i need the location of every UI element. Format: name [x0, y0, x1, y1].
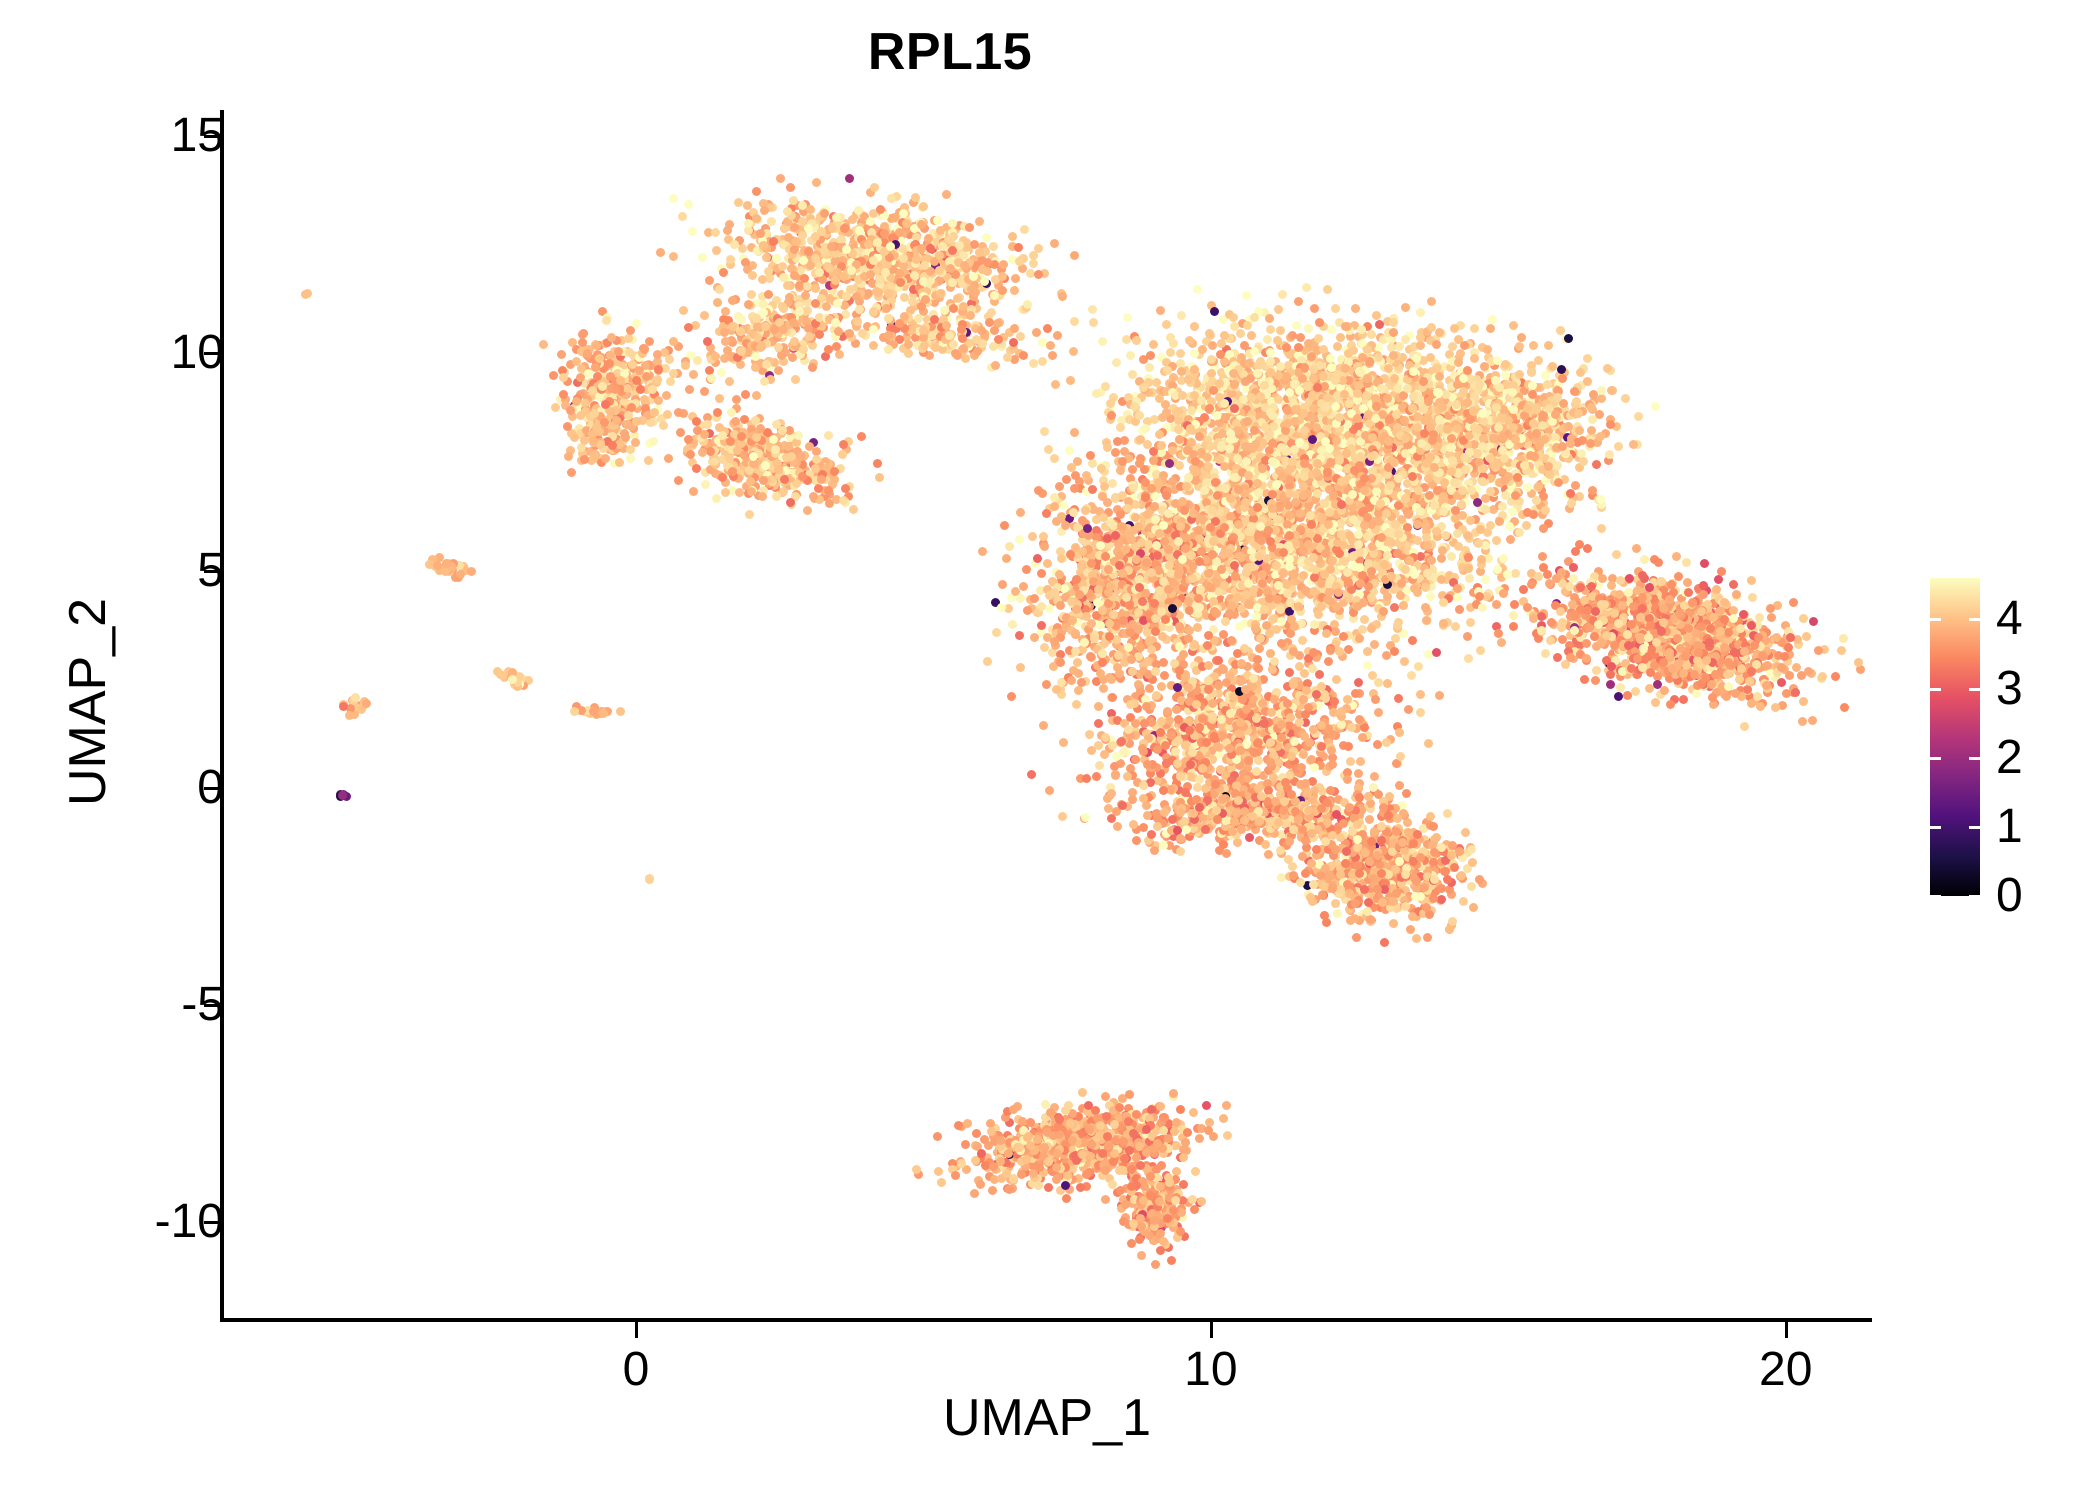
scatter-point	[914, 314, 923, 323]
scatter-point	[969, 272, 978, 281]
scatter-point	[1349, 346, 1358, 355]
scatter-point	[1357, 325, 1366, 334]
scatter-point	[595, 354, 604, 363]
scatter-point	[601, 454, 610, 463]
scatter-point	[917, 302, 926, 311]
scatter-point	[653, 350, 662, 359]
x-axis-line	[220, 1318, 1872, 1322]
scatter-point	[942, 190, 951, 199]
scatter-point	[1152, 378, 1161, 387]
scatter-point	[985, 318, 994, 327]
scatter-point	[748, 271, 757, 280]
scatter-point	[1217, 339, 1226, 348]
scatter-point	[884, 345, 893, 354]
scatter-point	[1419, 377, 1428, 386]
scatter-point	[567, 468, 576, 477]
scatter-point	[845, 329, 854, 338]
scatter-point	[978, 547, 987, 556]
scatter-point	[1363, 345, 1372, 354]
scatter-point	[1400, 657, 1409, 666]
scatter-point	[955, 241, 964, 250]
scatter-point	[804, 247, 813, 256]
scatter-point	[846, 285, 855, 294]
x-tick-mark	[1785, 1322, 1788, 1338]
scatter-point	[779, 273, 788, 282]
scatter-point	[839, 496, 848, 505]
scatter-point	[1089, 318, 1098, 327]
scatter-point	[961, 354, 970, 363]
scatter-point	[760, 206, 769, 215]
scatter-point	[1499, 554, 1508, 563]
scatter-point	[762, 253, 771, 262]
scatter-point	[1451, 622, 1460, 631]
scatter-point	[1086, 451, 1095, 460]
scatter-point	[825, 264, 834, 273]
scatter-point	[808, 363, 817, 372]
scatter-point	[626, 454, 635, 463]
scatter-point	[1101, 382, 1110, 391]
scatter-point	[725, 454, 734, 463]
scatter-point	[1464, 654, 1473, 663]
scatter-point	[676, 428, 685, 437]
scatter-point	[659, 421, 668, 430]
scatter-point	[654, 396, 663, 405]
scatter-point	[917, 244, 926, 253]
scatter-point	[777, 351, 786, 360]
scatter-point	[1511, 569, 1520, 578]
page-title: RPL15	[0, 22, 1900, 82]
scatter-point	[1424, 397, 1433, 406]
scatter-point	[1048, 351, 1057, 360]
scatter-point	[990, 291, 999, 300]
scatter-point	[1220, 399, 1229, 408]
scatter-point	[737, 315, 746, 324]
scatter-point	[1256, 392, 1265, 401]
scatter-point	[752, 214, 761, 223]
scatter-point	[790, 271, 799, 280]
scatter-point	[752, 187, 761, 196]
scatter-point	[1390, 374, 1399, 383]
scatter-point	[824, 431, 833, 440]
scatter-point	[799, 345, 808, 354]
scatter-point	[1230, 322, 1239, 331]
scatter-point	[948, 219, 957, 228]
scatter-point	[805, 332, 814, 341]
scatter-point	[1294, 343, 1303, 352]
x-tick-mark	[635, 1322, 638, 1338]
scatter-point	[776, 174, 785, 183]
scatter-point	[615, 458, 624, 467]
scatter-point	[1010, 286, 1019, 295]
scatter-point	[1509, 611, 1518, 620]
scatter-point	[1062, 475, 1071, 484]
scatter-point	[774, 343, 783, 352]
scatter-point	[1169, 339, 1178, 348]
scatter-point	[1315, 318, 1324, 327]
scatter-point	[1163, 366, 1172, 375]
scatter-point	[1236, 329, 1245, 338]
scatter-point	[849, 505, 858, 514]
scatter-point	[1046, 341, 1055, 350]
scatter-point	[1273, 336, 1282, 345]
scatter-point	[636, 385, 645, 394]
scatter-point	[886, 242, 895, 251]
scatter-point	[1426, 592, 1435, 601]
scatter-point	[624, 334, 633, 343]
scatter-point	[1263, 335, 1272, 344]
scatter-point	[679, 306, 688, 315]
scatter-point	[811, 232, 820, 241]
scatter-point	[864, 240, 873, 249]
scatter-point	[1302, 283, 1311, 292]
scatter-point	[840, 224, 849, 233]
scatter-point	[774, 465, 783, 474]
scatter-point	[1393, 384, 1402, 393]
scatter-point	[747, 290, 756, 299]
scatter-point	[557, 350, 566, 359]
scatter-point	[741, 390, 750, 399]
scatter-point	[747, 487, 756, 496]
scatter-point	[592, 341, 601, 350]
scatter-point	[887, 194, 896, 203]
scatter-point	[1274, 395, 1283, 404]
y-tick-label: 10	[0, 327, 224, 379]
scatter-point	[1395, 342, 1404, 351]
scatter-point	[752, 391, 761, 400]
scatter-point	[654, 365, 663, 374]
scatter-point	[1158, 413, 1167, 422]
scatter-point	[991, 361, 1000, 370]
scatter-point	[1070, 428, 1079, 437]
scatter-point	[1020, 225, 1029, 234]
scatter-point	[606, 372, 615, 381]
scatter-point	[965, 223, 974, 232]
scatter-point	[602, 316, 611, 325]
scatter-point	[744, 300, 753, 309]
scatter-point	[1010, 324, 1019, 333]
scatter-point	[1401, 335, 1410, 344]
scatter-point	[904, 340, 913, 349]
scatter-point	[1242, 291, 1251, 300]
y-tick-label: -5	[0, 979, 224, 1031]
scatter-point	[782, 453, 791, 462]
scatter-point	[1250, 313, 1259, 322]
scatter-point	[926, 244, 935, 253]
scatter-point	[735, 488, 744, 497]
scatter-point	[1243, 321, 1252, 330]
scatter-point	[1092, 389, 1101, 398]
scatter-point	[723, 346, 732, 355]
scatter-point	[1266, 348, 1275, 357]
scatter-point	[1333, 342, 1342, 351]
scatter-point	[764, 290, 773, 299]
scatter-point	[559, 373, 568, 382]
scatter-point	[1544, 341, 1553, 350]
scatter-point	[1486, 324, 1495, 333]
scatter-point	[788, 353, 797, 362]
scatter-point	[1233, 454, 1242, 463]
scatter-point	[1065, 446, 1074, 455]
scatter-point	[786, 498, 795, 507]
scatter-point	[784, 442, 793, 451]
scatter-point	[1135, 411, 1144, 420]
scatter-point	[945, 331, 954, 340]
scatter-point	[631, 438, 640, 447]
scatter-point	[795, 307, 804, 316]
scatter-point	[1304, 339, 1313, 348]
scatter-point	[740, 415, 749, 424]
scatter-point	[1370, 640, 1379, 649]
scatter-point	[674, 476, 683, 485]
scatter-point	[1455, 605, 1464, 614]
scatter-point	[1400, 416, 1409, 425]
scatter-point	[656, 248, 665, 257]
scatter-point	[1327, 325, 1336, 334]
scatter-point	[1488, 315, 1497, 324]
scatter-point	[774, 366, 783, 375]
scatter-point	[705, 276, 714, 285]
scatter-point	[1274, 305, 1283, 314]
scatter-point	[902, 219, 911, 228]
scatter-point	[989, 242, 998, 251]
scatter-point	[1432, 648, 1441, 657]
scatter-point	[1098, 337, 1107, 346]
scatter-point	[817, 475, 826, 484]
scatter-point	[919, 202, 928, 211]
scatter-point	[726, 255, 735, 264]
scatter-point	[958, 334, 967, 343]
scatter-point	[783, 207, 792, 216]
x-axis-title: UMAP_1	[222, 1388, 1872, 1448]
scatter-point	[731, 417, 740, 426]
scatter-point	[1427, 297, 1436, 306]
scatter-point	[973, 347, 982, 356]
scatter-point	[803, 282, 812, 291]
scatter-point	[625, 348, 634, 357]
scatter-point	[857, 432, 866, 441]
scatter-point	[601, 400, 610, 409]
scatter-point	[1176, 349, 1185, 358]
scatter-point	[831, 318, 840, 327]
scatter-point	[1070, 251, 1079, 260]
scatter-point	[1432, 340, 1441, 349]
scatter-point	[710, 457, 719, 466]
scatter-point	[666, 377, 675, 386]
scatter-point	[1112, 358, 1121, 367]
scatter-point	[881, 268, 890, 277]
scatter-point	[713, 408, 722, 417]
scatter-point	[1145, 363, 1154, 372]
scatter-point	[712, 246, 721, 255]
scatter-plot-panel	[222, 110, 1872, 1318]
scatter-point	[1583, 354, 1592, 363]
scatter-point	[895, 228, 904, 237]
scatter-point	[870, 183, 879, 192]
scatter-point	[917, 220, 926, 229]
scatter-point	[936, 289, 945, 298]
scatter-point	[1116, 423, 1125, 432]
scatter-point	[1193, 285, 1202, 294]
scatter-point	[794, 431, 803, 440]
scatter-point	[707, 374, 716, 383]
scatter-point	[718, 473, 727, 482]
scatter-point	[1221, 413, 1230, 422]
scatter-point	[1190, 349, 1199, 358]
scatter-point	[1034, 244, 1043, 253]
scatter-point	[1247, 331, 1256, 340]
scatter-point	[1014, 243, 1023, 252]
scatter-point	[1016, 332, 1025, 341]
scatter-point	[698, 253, 707, 262]
scatter-point	[936, 226, 945, 235]
scatter-point	[869, 341, 878, 350]
scatter-point	[583, 349, 592, 358]
scatter-point	[644, 456, 653, 465]
scatter-point	[960, 261, 969, 270]
scatter-point	[1149, 340, 1158, 349]
y-tick-label: 15	[0, 110, 224, 162]
scatter-point	[746, 477, 755, 486]
scatter-point	[869, 325, 878, 334]
scatter-point	[953, 294, 962, 303]
scatter-point	[580, 455, 589, 464]
scatter-point	[972, 335, 981, 344]
scatter-point	[725, 377, 734, 386]
scatter-point	[779, 304, 788, 313]
scatter-point	[640, 395, 649, 404]
scatter-point	[1126, 351, 1135, 360]
scatter-point	[726, 437, 735, 446]
scatter-point	[593, 372, 602, 381]
scatter-point	[1314, 334, 1323, 343]
scatter-point	[1463, 632, 1472, 641]
umap-feature-plot: RPL15 UMAP_2 UMAP_1 -10-5051015 01020 43…	[0, 0, 2100, 1500]
scatter-point	[1162, 320, 1171, 329]
scatter-point	[1266, 357, 1275, 366]
scatter-point	[1139, 383, 1148, 392]
scatter-point	[1174, 425, 1183, 434]
scatter-point	[769, 237, 778, 246]
scatter-point	[1509, 321, 1518, 330]
y-axis-title: UMAP_2	[58, 352, 118, 1052]
scatter-point	[640, 345, 649, 354]
scatter-point	[778, 262, 787, 271]
scatter-point	[949, 340, 958, 349]
scatter-point	[1088, 305, 1097, 314]
scatter-point	[600, 418, 609, 427]
scatter-point	[1040, 427, 1049, 436]
scatter-point	[650, 408, 659, 417]
scatter-point	[728, 322, 737, 331]
scatter-point	[858, 329, 867, 338]
scatter-point	[1172, 408, 1181, 417]
scatter-point	[791, 375, 800, 384]
scatter-point	[665, 355, 674, 364]
scatter-point	[700, 311, 709, 320]
scatter-point	[1038, 357, 1047, 366]
scatter-point	[715, 394, 724, 403]
scatter-point	[848, 215, 857, 224]
scatter-point	[632, 417, 641, 426]
scatter-point	[1011, 274, 1020, 283]
scatter-point	[1132, 336, 1141, 345]
scatter-point	[1166, 348, 1175, 357]
scatter-point	[1408, 636, 1417, 645]
y-tick-label: 5	[0, 545, 224, 597]
scatter-point	[1058, 292, 1067, 301]
scatter-point	[855, 226, 864, 235]
scatter-point	[719, 268, 728, 277]
scatter-point	[838, 450, 847, 459]
scatter-point	[711, 228, 720, 237]
scatter-point	[1310, 304, 1319, 313]
scatter-point	[1367, 330, 1376, 339]
scatter-point	[1008, 232, 1017, 241]
scatter-point	[730, 240, 739, 249]
scatter-point	[1304, 324, 1313, 333]
scatter-point	[920, 261, 929, 270]
scatter-point	[1019, 351, 1028, 360]
scatter-point	[539, 340, 548, 349]
scatter-point	[734, 198, 743, 207]
scatter-point	[669, 252, 678, 261]
scatter-point	[1043, 324, 1052, 333]
scatter-point	[1051, 380, 1060, 389]
scatter-point	[1139, 355, 1148, 364]
scatter-point	[1245, 359, 1254, 368]
scatter-point	[685, 385, 694, 394]
scatter-point	[733, 446, 742, 455]
scatter-point	[815, 268, 824, 277]
scatter-point	[549, 371, 558, 380]
scatter-point	[820, 209, 829, 218]
scatter-point	[1372, 311, 1381, 320]
scatter-point	[551, 403, 560, 412]
scatter-point	[662, 391, 671, 400]
scatter-point	[789, 196, 798, 205]
scatter-point	[1351, 304, 1360, 313]
scatter-point	[1392, 410, 1401, 419]
scatter-point	[799, 256, 808, 265]
scatter-point	[835, 350, 844, 359]
scatter-point	[1130, 402, 1139, 411]
scatter-point	[1005, 542, 1014, 551]
scatter-point	[1156, 306, 1165, 315]
scatter-point	[830, 467, 839, 476]
scatter-point	[779, 487, 788, 496]
scatter-point	[1427, 323, 1436, 332]
scatter-point	[669, 369, 678, 378]
scatter-point	[1187, 406, 1196, 415]
scatter-point	[999, 260, 1008, 269]
scatter-point	[678, 212, 687, 221]
scatter-point	[564, 452, 573, 461]
scatter-point	[1341, 322, 1350, 331]
scatter-point	[1375, 320, 1384, 329]
scatter-point	[663, 410, 672, 419]
scatter-point	[1470, 324, 1479, 333]
scatter-point	[674, 408, 683, 417]
scatter-point	[832, 342, 841, 351]
scatter-point	[1069, 347, 1078, 356]
scatter-point	[1029, 259, 1038, 268]
scatter-point	[874, 288, 883, 297]
scatter-point	[866, 270, 875, 279]
scatter-point	[1508, 507, 1517, 516]
scatter-point	[1389, 328, 1398, 337]
scatter-point	[998, 286, 1007, 295]
scatter-point	[1314, 610, 1323, 619]
